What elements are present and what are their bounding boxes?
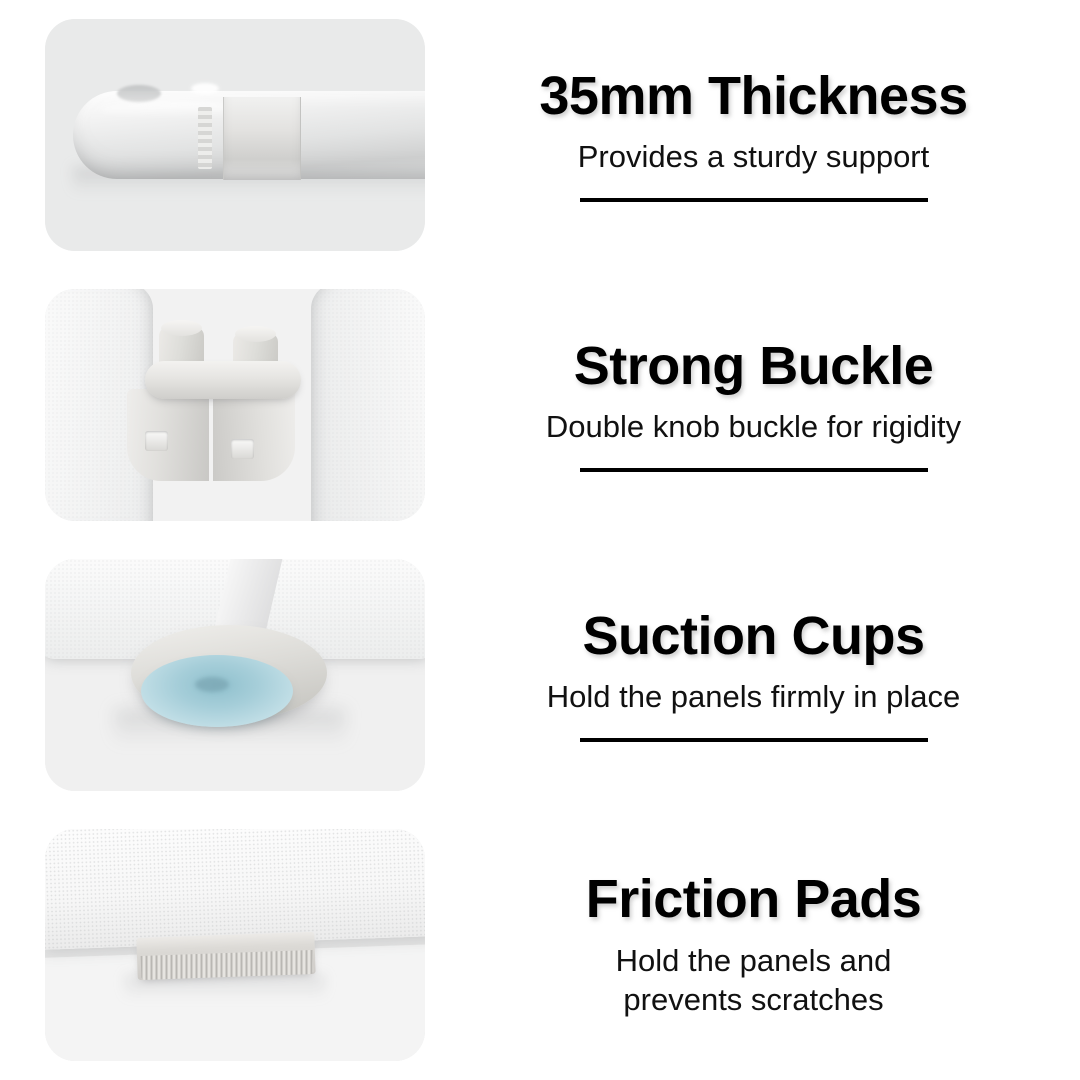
feature-row-buckle: Strong Buckle Double knob buckle for rig… — [0, 270, 1080, 540]
panel-highlight — [191, 83, 219, 94]
feature-subtitle: Hold the panels firmly in place — [547, 677, 961, 716]
feature-title: Friction Pads — [586, 871, 922, 928]
buckle-barrel-left — [127, 389, 209, 481]
panel-edge-thickness-photo — [45, 19, 425, 251]
suction-cup-center — [195, 677, 229, 692]
feature-infographic: 35mm Thickness Provides a sturdy support… — [0, 0, 1080, 1080]
feature-divider — [580, 738, 928, 742]
feature-text-buckle: Strong Buckle Double knob buckle for rig… — [425, 338, 1080, 472]
buckle-barrel-right — [213, 389, 295, 481]
feature-subtitle: Provides a sturdy support — [578, 137, 930, 176]
feature-title: 35mm Thickness — [539, 68, 967, 125]
feature-row-suction: Suction Cups Hold the panels firmly in p… — [0, 540, 1080, 810]
panel-dimple — [117, 85, 161, 102]
photo-frame — [45, 289, 425, 521]
photo-frame — [45, 19, 425, 251]
suction-cup-photo — [45, 559, 425, 791]
connector-teeth — [198, 107, 212, 169]
panel-right — [311, 289, 425, 521]
feature-title: Suction Cups — [583, 608, 925, 665]
photo-frame — [45, 829, 425, 1061]
feature-title: Strong Buckle — [574, 338, 934, 395]
feature-text-suction: Suction Cups Hold the panels firmly in p… — [425, 608, 1080, 742]
friction-pad-photo — [45, 829, 425, 1061]
feature-text-thickness: 35mm Thickness Provides a sturdy support — [425, 68, 1080, 202]
feature-text-friction: Friction Pads Hold the panels and preven… — [425, 871, 1080, 1018]
feature-subtitle: Double knob buckle for rigidity — [546, 407, 961, 446]
feature-divider — [580, 468, 928, 472]
buckle-slot-right — [231, 439, 254, 459]
feature-divider — [580, 198, 928, 202]
connector-band — [223, 97, 301, 180]
feature-subtitle: Hold the panels and prevents scratches — [616, 941, 892, 1019]
panel-surface — [45, 829, 425, 950]
photo-frame — [45, 559, 425, 791]
feature-row-thickness: 35mm Thickness Provides a sturdy support — [0, 0, 1080, 270]
double-knob-buckle-photo — [45, 289, 425, 521]
buckle-slot-left — [145, 431, 168, 451]
feature-row-friction: Friction Pads Hold the panels and preven… — [0, 810, 1080, 1080]
buckle-bar — [145, 361, 301, 399]
